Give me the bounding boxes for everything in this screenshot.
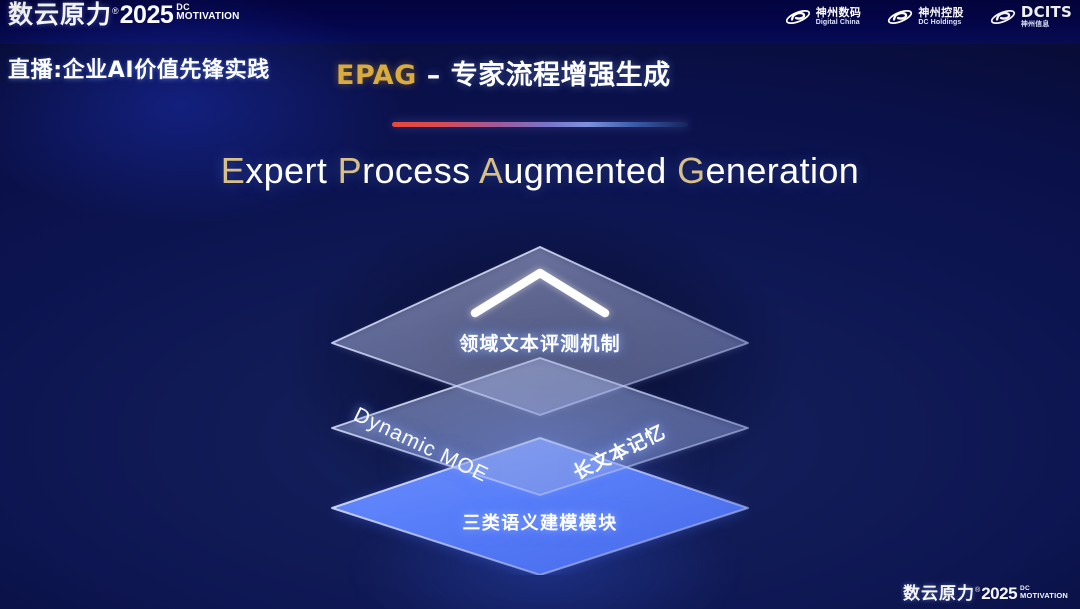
- watermark-brand-cn: 数云原力: [903, 585, 975, 603]
- watermark-reg-mark: ®: [975, 587, 980, 594]
- slide-stage: 数云原力 ® 2025 DC MOTIVATION 直播:企业AI价值先锋实践 …: [0, 0, 1080, 609]
- vignette-overlay: [0, 0, 1080, 609]
- brand-watermark-bottom-right: 数云原力 ® 2025 DC MOTIVATION: [903, 585, 1068, 603]
- watermark-year: 2025: [981, 585, 1017, 603]
- watermark-dc-motivation: DC MOTIVATION: [1020, 586, 1068, 599]
- watermark-dc-line2: MOTIVATION: [1020, 592, 1068, 599]
